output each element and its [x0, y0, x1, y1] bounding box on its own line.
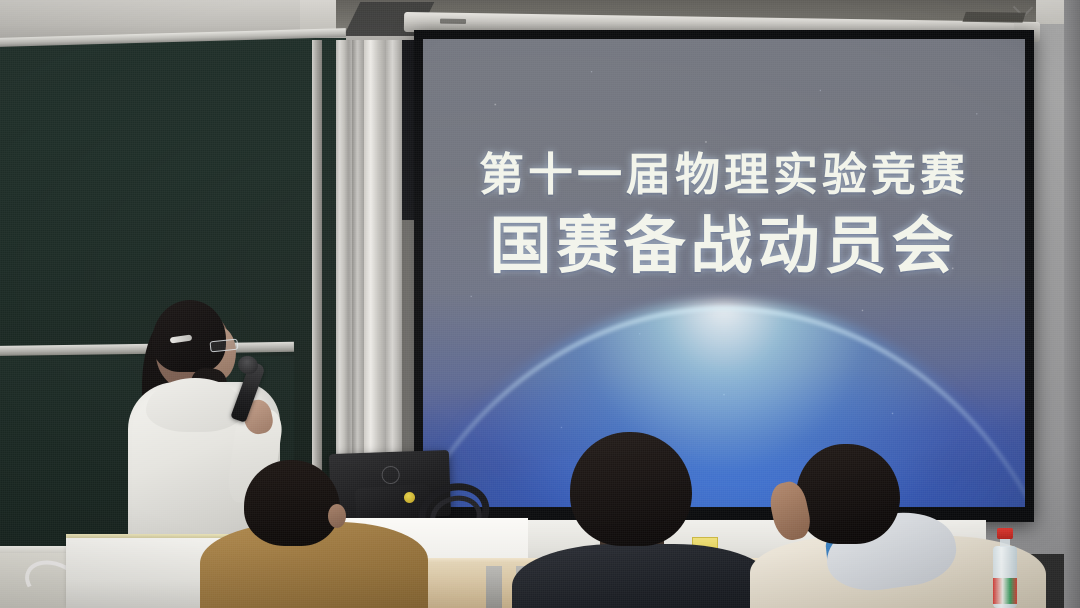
right-wall-edge	[1064, 0, 1080, 608]
audience-member-tan-coat	[206, 460, 426, 608]
bottle-neck	[1000, 539, 1010, 547]
audience-1-head	[244, 460, 340, 546]
water-bottle	[992, 528, 1018, 608]
audience-member-dark-jacket	[530, 432, 760, 608]
bottle-label	[993, 578, 1017, 604]
audience-2-head	[570, 432, 692, 546]
housing-support-arm	[962, 12, 1025, 23]
audience-3-head	[796, 444, 900, 544]
audience-2-jacket	[512, 544, 774, 608]
bench-bracket-left	[486, 566, 502, 608]
classroom-photo-scene: 第十一届物理实验竞赛 国赛备战动员会	[0, 0, 1080, 608]
bottle-cap	[997, 528, 1013, 539]
audience-1-ear	[328, 504, 346, 528]
housing-brand-mark	[440, 19, 466, 24]
